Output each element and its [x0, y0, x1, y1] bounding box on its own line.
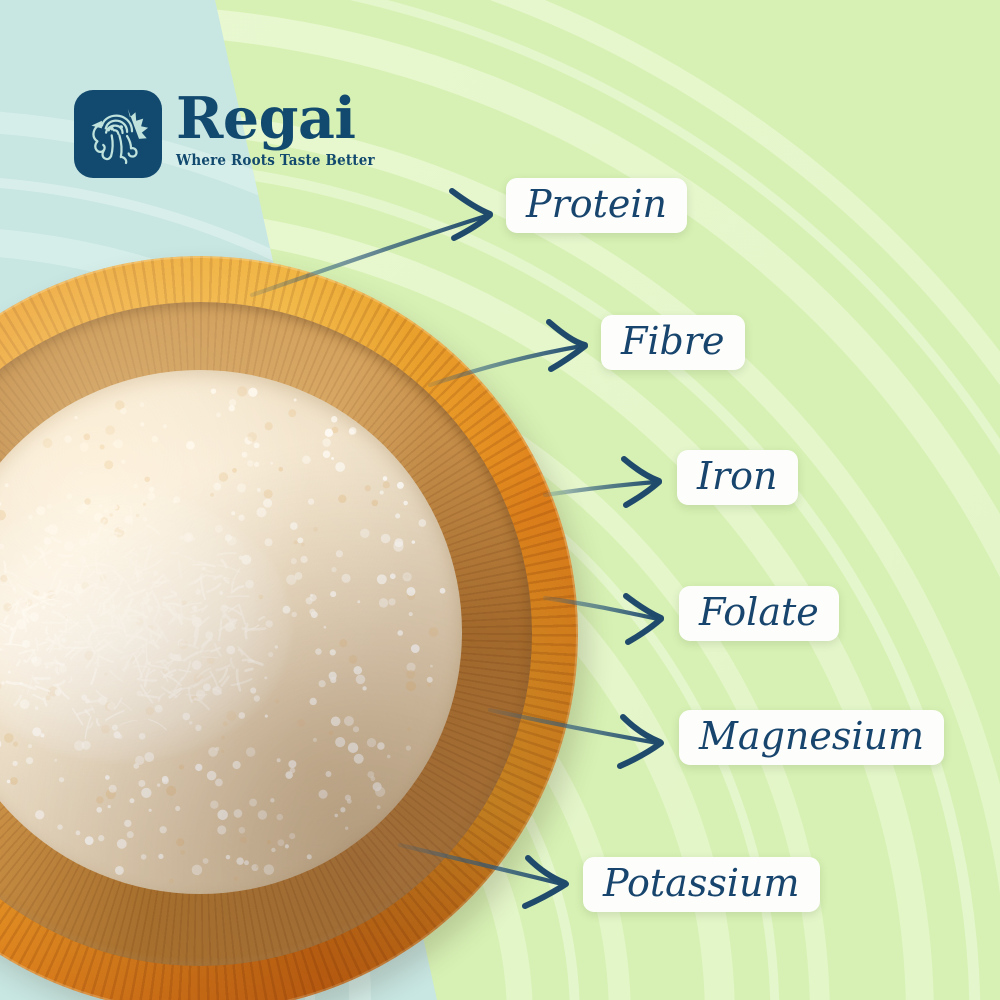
brand-name: Regai	[176, 92, 356, 147]
nutrient-label-fibre[interactable]: Fibre	[601, 315, 745, 370]
porridge-bowl-photo	[0, 256, 578, 1000]
bowl-outer-rim	[0, 256, 578, 1000]
porridge-surface	[0, 370, 462, 894]
nutrient-label-protein[interactable]: Protein	[506, 178, 687, 233]
infographic-canvas: Regai Where Roots Taste Better	[0, 0, 1000, 1000]
coconut-shreds	[0, 506, 273, 747]
porridge-texture	[0, 370, 462, 894]
brand-tagline: Where Roots Taste Better	[176, 152, 375, 169]
nutrient-label-folate[interactable]: Folate	[679, 586, 839, 641]
nutrient-label-potassium[interactable]: Potassium	[583, 857, 820, 912]
brand-logo[interactable]: Regai Where Roots Taste Better	[74, 90, 390, 178]
bowl-rim-highlight	[0, 256, 578, 1000]
shredded-coconut-garnish	[0, 506, 273, 747]
coconut-soft-glow	[0, 492, 292, 762]
nutrient-label-iron[interactable]: Iron	[677, 450, 798, 505]
brand-wordmark: Regai Where Roots Taste Better	[176, 90, 390, 169]
bowl-inner-wall	[0, 302, 532, 966]
lion-mark-icon	[74, 90, 162, 178]
nutrient-label-magnesium[interactable]: Magnesium	[679, 710, 944, 765]
